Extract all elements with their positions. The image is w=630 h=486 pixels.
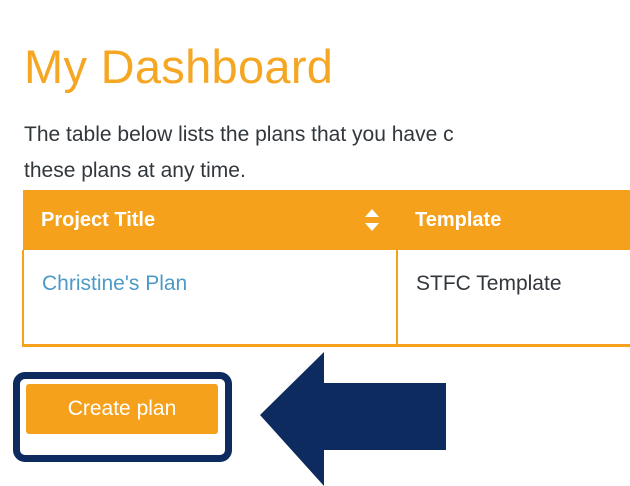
table-header-row: Project Title Template <box>23 190 630 250</box>
page-title: My Dashboard <box>24 39 333 95</box>
column-header-project-title[interactable]: Project Title <box>23 190 397 250</box>
plans-table-head: Project Title Template <box>23 190 630 250</box>
template-name: STFC Template <box>416 250 630 296</box>
create-plan-button[interactable]: Create plan <box>26 384 218 434</box>
cell-project-title: Christine's Plan <box>23 250 397 346</box>
intro-line-1: The table below lists the plans that you… <box>24 117 630 153</box>
sort-updown-icon[interactable] <box>365 209 379 231</box>
plan-link[interactable]: Christine's Plan <box>42 272 187 295</box>
intro-line-2: these plans at any time. <box>24 153 630 189</box>
plans-table: Project Title Template Christine's Plan … <box>22 190 630 347</box>
column-header-template-label: Template <box>415 209 501 231</box>
annotation-left-arrow-icon <box>256 348 448 486</box>
intro-paragraph: The table below lists the plans that you… <box>24 117 630 189</box>
column-header-template[interactable]: Template <box>397 190 630 250</box>
plans-table-body: Christine's Plan STFC Template <box>23 250 630 346</box>
cell-template: STFC Template <box>397 250 630 346</box>
dashboard-page: My Dashboard The table below lists the p… <box>0 0 630 486</box>
table-row: Christine's Plan STFC Template <box>23 250 630 346</box>
column-header-project-title-label: Project Title <box>41 209 155 232</box>
